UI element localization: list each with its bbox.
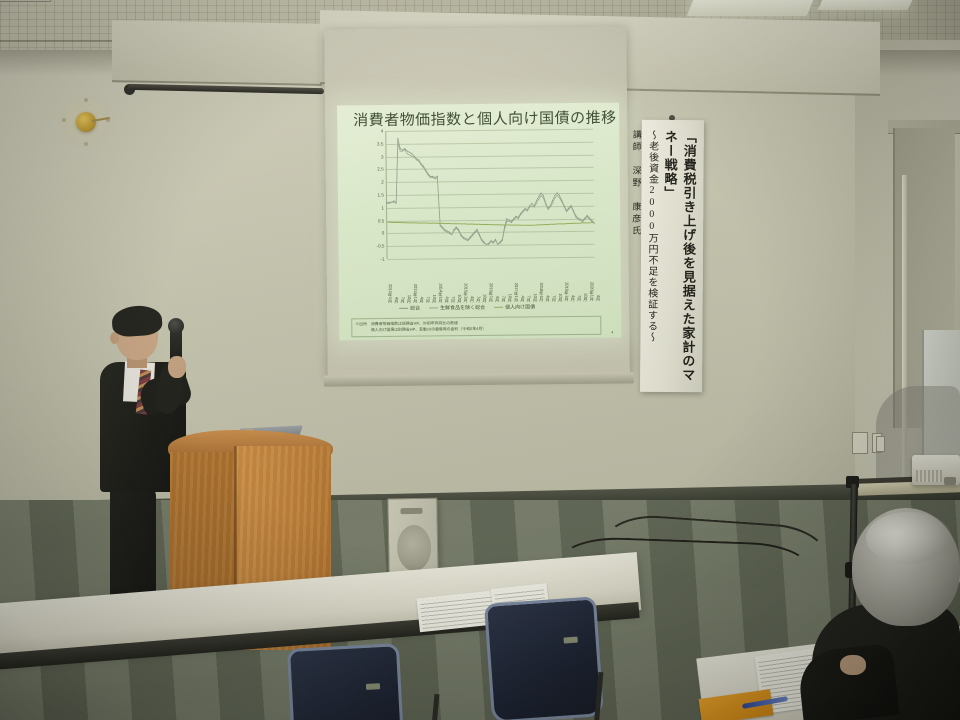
attendee-hair-highlight: [866, 512, 952, 564]
chair-backrest: [287, 643, 405, 720]
clock-hour-mark: [84, 98, 88, 102]
chair-backrest: [484, 596, 604, 720]
legend-item: 個人向け国債: [494, 303, 535, 310]
legend-swatch-icon: [494, 307, 503, 308]
x-tick-label: 2017年1月: [513, 282, 519, 301]
chart-series-svg: [386, 129, 594, 259]
chart-marker: [386, 203, 387, 204]
legend-item: 生鮮食品を除く総合: [429, 304, 485, 312]
chart-marker: [386, 202, 387, 203]
projected-slide: 消費者物価指数と個人向け国債の推移 4 3.5 3 2.5 2 1.5: [337, 103, 621, 341]
y-tick-label: 1.5: [378, 192, 384, 197]
y-tick-label: -0.5: [377, 244, 385, 249]
projector-vent: [916, 470, 942, 482]
wall-outlet[interactable]: [876, 436, 885, 452]
y-tick-label: 2: [381, 180, 384, 185]
banner-subtitle: ～老後資金2000万円不足を検証する～: [643, 130, 660, 384]
pa-speaker-cone-icon: [397, 525, 432, 572]
seminar-room-scene: 消費者物価指数と個人向け国債の推移 4 3.5 3 2.5 2 1.5: [0, 0, 960, 720]
x-tick-label: 4月: [494, 295, 500, 301]
x-tick-label: 7月: [576, 295, 582, 301]
ceiling-light-panel: [687, 0, 813, 16]
legend-label: 個人向け国債: [505, 303, 535, 310]
legend-label: 総合: [410, 305, 420, 312]
x-tick-label: 7月: [475, 296, 481, 302]
legend-swatch-icon: [399, 308, 408, 309]
x-tick-label: 10月: [406, 294, 412, 303]
x-tick-label: 4月: [570, 295, 576, 301]
presenter-hand: [168, 356, 186, 378]
chart-line-個人向け国債: [387, 220, 594, 227]
x-tick-label: 7月: [425, 296, 431, 302]
y-tick-label: 3.5: [377, 141, 383, 146]
banner-title: 「消費税引き上げ後を見据えた家計のマネー戦略」: [659, 130, 699, 384]
x-tick-label: 7月: [500, 295, 506, 301]
x-tick-label: 4月: [418, 296, 424, 302]
clock-center-boss: [76, 112, 96, 132]
chart-line-総合: [386, 136, 594, 245]
projector-lens-icon: [944, 477, 956, 485]
presenter-hair: [111, 304, 163, 337]
x-tick-label: 4月: [595, 294, 601, 300]
y-tick-label: 1: [381, 205, 384, 210]
banner-lecturer: 講師 深野 康彦氏: [629, 130, 644, 384]
x-tick-label: 4月: [545, 295, 551, 301]
x-tick-label: 10月: [481, 293, 487, 302]
x-axis-labels: 2012年1月4月7月10月2013年1月4月7月10月2014年1月4月7月1…: [387, 257, 595, 303]
chair-tag: [563, 637, 577, 644]
x-tick-label: 2012年1月: [387, 284, 393, 303]
x-tick-label: 2018年1月: [538, 282, 544, 301]
y-tick-label: -1: [380, 256, 384, 261]
x-tick-label: 4月: [469, 296, 475, 302]
pa-speaker-top: [0, 0, 53, 2]
slide-title: 消費者物価指数と個人向け国債の推移: [353, 107, 617, 131]
x-tick-label: 4月: [393, 297, 399, 303]
slide-source-note: ※出所 消費者物価指数は総務省HP、対前年同月比の数値 個人向け国債は財務省HP…: [351, 316, 601, 338]
x-tick-label: 2020年1月: [589, 282, 595, 301]
legend-swatch-icon: [429, 307, 438, 308]
x-tick-label: 2014年1月: [437, 283, 443, 302]
x-tick-label: 2013年1月: [412, 283, 418, 302]
x-tick-label: 2015年1月: [462, 283, 468, 302]
wall-outlet[interactable]: [852, 432, 868, 454]
microphone-head-icon: [168, 318, 184, 334]
clock-hour-mark: [84, 142, 88, 146]
projection-screen: 消費者物価指数と個人向け国債の推移 4 3.5 3 2.5 2 1.5: [324, 26, 630, 377]
x-tick-label: 7月: [526, 295, 532, 301]
ceiling-light-panel: [818, 0, 913, 10]
chair[interactable]: [287, 643, 405, 720]
chart-plot-area: 4 3.5 3 2.5 2 1.5 1 0.5 0 -0.5 -1: [385, 129, 594, 259]
y-tick-label: 3: [381, 154, 384, 159]
clock-hour-mark: [62, 118, 66, 122]
x-tick-label: 10月: [532, 293, 538, 302]
chart-marker: [389, 202, 390, 203]
y-tick-label: 0.5: [378, 218, 384, 223]
y-tick-label: 4: [381, 128, 384, 133]
x-tick-label: 10月: [456, 294, 462, 303]
chair[interactable]: [484, 596, 604, 720]
chart-line-生鮮食品を除く総合: [386, 142, 594, 246]
x-tick-label: 7月: [400, 296, 406, 302]
chart-legend: 総合生鮮食品を除く総合個人向け国債: [399, 303, 613, 312]
x-tick-label: 4月: [444, 296, 450, 302]
slide-page-number: 4: [611, 330, 613, 335]
y-tick-label: 2.5: [377, 167, 383, 172]
legend-label: 生鮮食品を除く総合: [440, 304, 485, 311]
legend-item: 総合: [399, 305, 420, 312]
x-tick-label: 7月: [551, 295, 557, 301]
y-tick-label: 0: [382, 231, 385, 236]
x-tick-label: 10月: [431, 294, 437, 303]
x-tick-label: 10月: [507, 293, 513, 302]
event-banner: 「消費税引き上げ後を見据えた家計のマネー戦略」 ～老後資金2000万円不足を検証…: [640, 120, 704, 392]
screen-housing-box-left: [112, 20, 322, 86]
x-tick-label: 4月: [519, 295, 525, 301]
x-tick-label: 2016年1月: [488, 283, 494, 302]
pa-speaker-handle[interactable]: [400, 508, 422, 514]
x-tick-label: 7月: [450, 296, 456, 302]
chair-tag: [366, 683, 380, 690]
x-tick-label: 10月: [557, 293, 563, 302]
attendee-hand: [840, 655, 866, 675]
x-tick-label: 10月: [582, 292, 588, 301]
x-tick-label: 2019年1月: [563, 282, 569, 301]
